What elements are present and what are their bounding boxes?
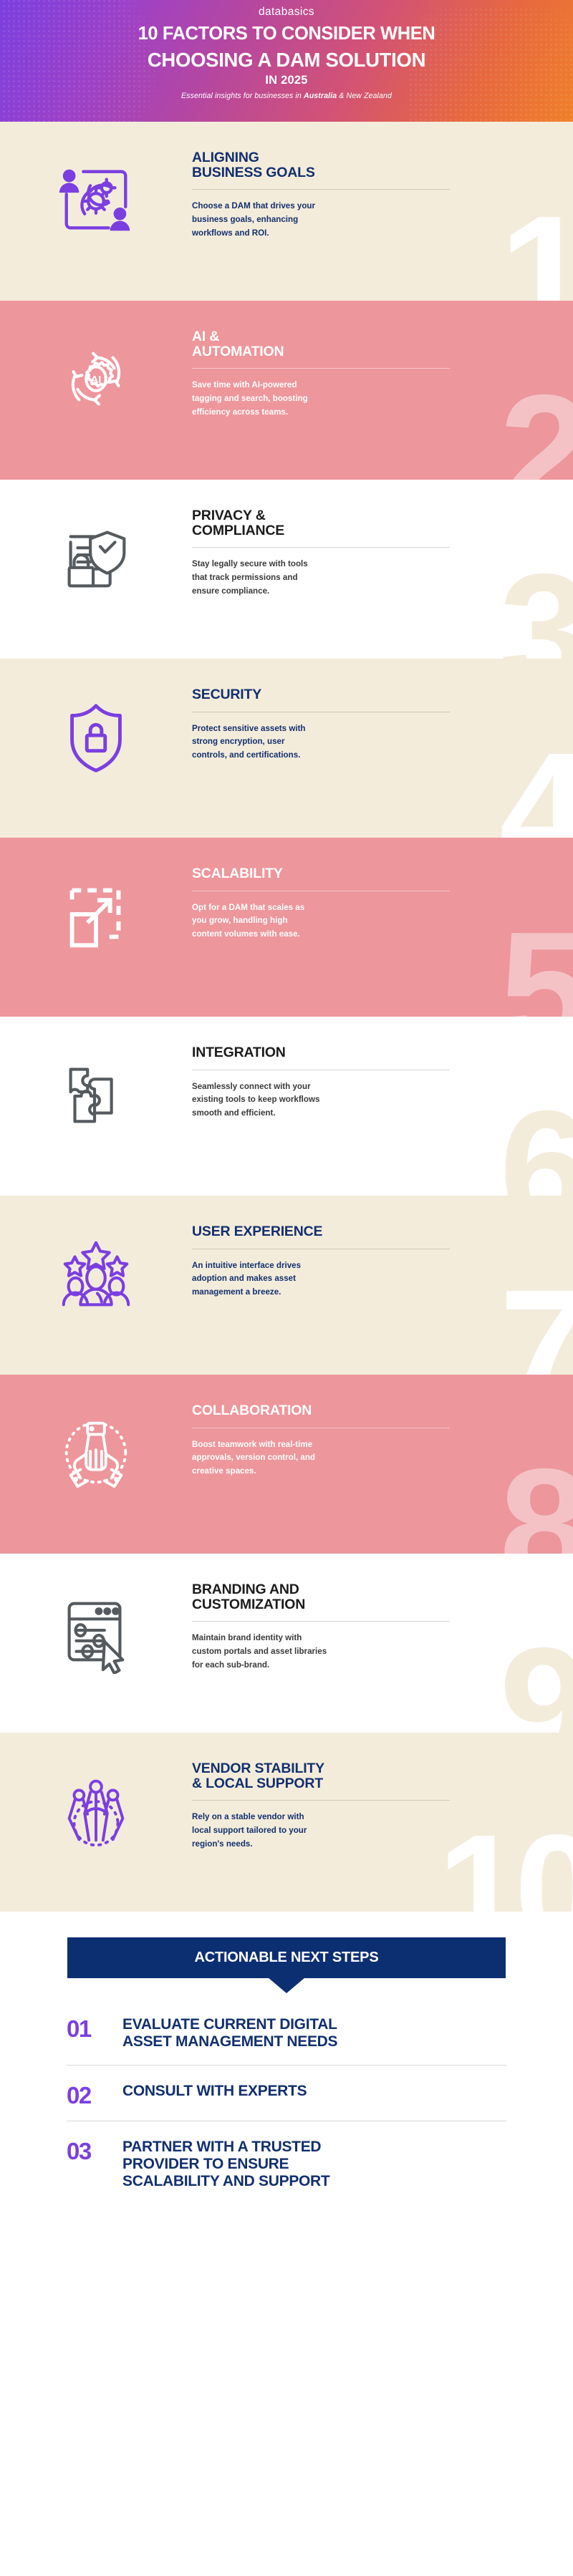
next-step-item: 03 PARTNER WITH A TRUSTED PROVIDER TO EN… [67, 2134, 506, 2191]
factor-row: 7 [0, 1196, 573, 1375]
hero-title-line2: CHOOSING A DAM SOLUTION [0, 50, 573, 70]
hero-subtitle-suffix: & New Zealand [337, 92, 392, 100]
section-notch-icon [198, 479, 249, 480]
factor-divider [192, 1428, 450, 1428]
brand-logo: databasics [0, 6, 573, 18]
next-step-divider [67, 2121, 506, 2121]
factor-row: 1 [0, 122, 573, 301]
factor-divider [192, 891, 450, 891]
factors-list: 1 [0, 122, 573, 1912]
factor-row: 10 [0, 1733, 573, 1912]
factor-description: Save time with AI-powered tagging and se… [192, 379, 414, 419]
section-notch-icon [198, 1732, 249, 1733]
factor-description: Opt for a DAM that scales as you grow, h… [192, 901, 414, 941]
factor-description: Choose a DAM that drives your business g… [192, 200, 414, 240]
section-notch-icon [198, 1911, 249, 1912]
hero-header: databasics 10 FACTORS TO CONSIDER WHEN C… [0, 0, 573, 122]
section-notch-icon [198, 658, 249, 659]
factor-title: ALIGNING BUSINESS GOALS [192, 150, 530, 180]
factor-divider [192, 189, 450, 190]
svg-text:AI: AI [91, 374, 102, 386]
factor-title: BRANDING AND CUSTOMIZATION [192, 1582, 530, 1612]
section-notch-icon [198, 1553, 249, 1554]
next-step-number: 01 [67, 2016, 122, 2040]
next-steps-list: 01 EVALUATE CURRENT DIGITAL ASSET MANAGE… [67, 2012, 506, 2191]
next-step-label: PARTNER WITH A TRUSTED PROVIDER TO ENSUR… [122, 2139, 506, 2191]
infographic-page: databasics 10 FACTORS TO CONSIDER WHEN C… [0, 0, 573, 2576]
hero-title-line1: 10 FACTORS TO CONSIDER WHEN [0, 24, 573, 43]
factor-description: An intuitive interface drives adoption a… [192, 1259, 414, 1299]
section-notch-icon [198, 1195, 249, 1196]
factor-divider [192, 547, 450, 548]
factor-description: Maintain brand identity with custom port… [192, 1632, 414, 1672]
section-notch-icon [198, 300, 249, 301]
next-step-item: 02 CONSULT WITH EXPERTS [67, 2078, 506, 2107]
factor-description: Rely on a stable vendor with local suppo… [192, 1811, 414, 1851]
hero-year: IN 2025 [0, 74, 573, 87]
next-steps-section: ACTIONABLE NEXT STEPS 01 EVALUATE CURREN… [0, 1912, 573, 2191]
factor-description: Seamlessly connect with your existing to… [192, 1080, 414, 1120]
factor-row: 8 [0, 1375, 573, 1554]
section-notch-icon [198, 1374, 249, 1375]
people-support-icon [0, 1761, 192, 1853]
factor-row: 3 PRIVACY & COMPLI [0, 480, 573, 659]
factor-divider [192, 1800, 450, 1801]
next-step-number: 02 [67, 2083, 122, 2107]
factor-title: AI & AUTOMATION [192, 329, 530, 359]
scalability-expand-icon [0, 866, 192, 958]
section-notch-icon [198, 1016, 249, 1017]
next-step-item: 01 EVALUATE CURRENT DIGITAL ASSET MANAGE… [67, 2012, 506, 2051]
factor-divider [192, 1621, 450, 1622]
factor-title: VENDOR STABILITY & LOCAL SUPPORT [192, 1761, 530, 1791]
section-notch-icon [198, 837, 249, 838]
puzzle-pieces-icon [0, 1045, 192, 1137]
factor-title: INTEGRATION [192, 1045, 530, 1060]
shield-lock-icon [0, 687, 192, 779]
hero-subtitle-bold: Australia [304, 92, 337, 100]
factor-row: 2 [0, 301, 573, 480]
settings-sliders-cursor-icon [0, 1582, 192, 1674]
factor-title: SECURITY [192, 687, 530, 702]
factor-title: PRIVACY & COMPLIANCE [192, 508, 530, 538]
factor-divider [192, 368, 450, 369]
next-step-divider [67, 2065, 506, 2066]
factor-title: USER EXPERIENCE [192, 1224, 530, 1239]
factor-description: Protect sensitive assets with strong enc… [192, 722, 414, 762]
factor-divider [192, 712, 450, 712]
factor-row: 4 SECURITY Protect sensitive assets with… [0, 659, 573, 838]
ai-gear-icon: AI [0, 329, 192, 421]
helping-hands-icon [0, 1403, 192, 1495]
factor-title: COLLABORATION [192, 1403, 530, 1418]
hero-subtitle-prefix: Essential insights for businesses in [181, 92, 304, 100]
next-step-label: EVALUATE CURRENT DIGITAL ASSET MANAGEMEN… [122, 2016, 506, 2051]
factor-description: Boost teamwork with real-time approvals,… [192, 1438, 414, 1478]
users-stars-icon [0, 1224, 192, 1316]
privacy-document-lock-icon [0, 508, 192, 600]
next-step-number: 03 [67, 2139, 122, 2163]
factor-row: 6 INTEGRATION Seamlessly connect with yo… [0, 1017, 573, 1196]
factor-row: 5 S [0, 838, 573, 1017]
business-goals-icon [0, 150, 192, 242]
factor-divider [192, 1249, 450, 1249]
factor-divider [192, 1070, 450, 1070]
hero-subtitle: Essential insights for businesses in Aus… [0, 92, 573, 100]
factor-row: 9 [0, 1554, 573, 1733]
next-step-label: CONSULT WITH EXPERTS [122, 2083, 506, 2100]
next-steps-banner: ACTIONABLE NEXT STEPS [67, 1937, 506, 1978]
factor-title: SCALABILITY [192, 866, 530, 881]
factor-description: Stay legally secure with tools that trac… [192, 558, 414, 598]
